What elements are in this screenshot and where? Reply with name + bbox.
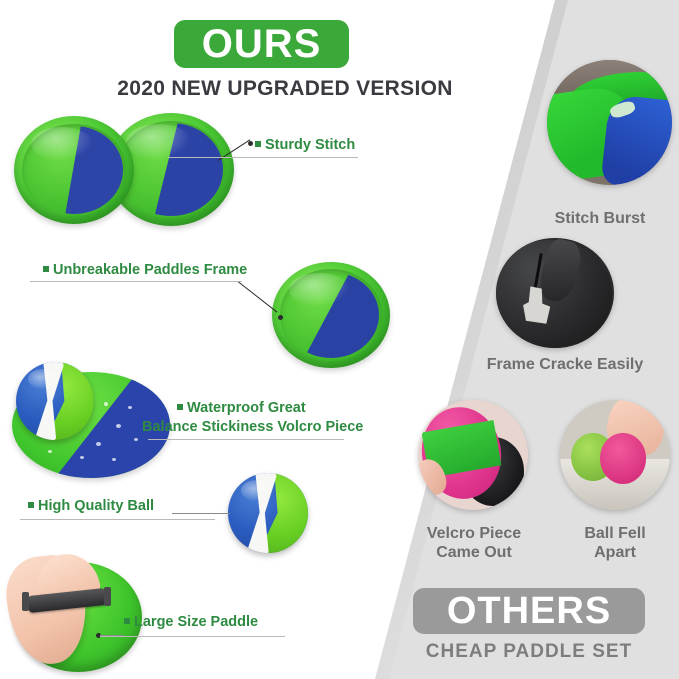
ours-badge: OURS	[174, 20, 349, 68]
leader-dot-unbreakable-frame	[278, 315, 283, 320]
caption-line-1: Velcro Piece	[388, 524, 560, 543]
callout-label: Unbreakable Paddles Frame	[53, 262, 247, 278]
others-badge: OTHERS	[413, 588, 645, 634]
leader-line-unbreakable-frame	[237, 281, 277, 313]
callout-rule-unbreakable-frame	[30, 281, 242, 282]
bullet-icon	[177, 404, 183, 410]
callout-waterproof-line2: Balance Stickiness Volcro Piece	[142, 418, 363, 436]
callout-label: Balance Stickiness Volcro Piece	[142, 419, 363, 435]
caption-line-1: Stitch Burst	[530, 209, 670, 228]
caption-frame-crack: Frame Cracke Easily	[455, 355, 675, 374]
callout-rule-high-quality-ball	[172, 513, 230, 514]
bullet-icon	[124, 618, 130, 624]
paddle-top-left	[14, 116, 134, 224]
strap-buckle-right	[104, 587, 111, 606]
tennis-ball-on-paddle	[16, 362, 94, 440]
comparison-infographic: OURS 2020 NEW UPGRADED VERSION Sturdy St…	[0, 0, 679, 679]
callout-label: High Quality Ball	[38, 498, 154, 514]
caption-line-1: Ball Fell	[548, 524, 679, 543]
ours-subtitle: 2020 NEW UPGRADED VERSION	[105, 77, 465, 101]
callout-label: Waterproof Great	[187, 400, 306, 416]
callout-rule-waterproof	[148, 439, 344, 440]
paddle-single	[272, 262, 390, 368]
ball-gloss	[241, 480, 273, 501]
caption-line-1: Frame Cracke Easily	[455, 355, 675, 374]
callout-label: Large Size Paddle	[134, 614, 258, 630]
photo-frame-crack	[496, 238, 614, 348]
callout-unbreakable-frame: Unbreakable Paddles Frame	[43, 261, 247, 279]
strap-buckle-left	[22, 592, 29, 611]
callout-sturdy-stitch: Sturdy Stitch	[255, 136, 355, 154]
bullet-icon	[43, 266, 49, 272]
pink-ball-half	[600, 433, 646, 484]
caption-velcro-out: Velcro Piece Came Out	[388, 524, 560, 562]
callout-underline-high-quality-ball	[20, 519, 215, 520]
caption-stitch-burst: Stitch Burst	[530, 209, 670, 228]
callout-waterproof-line1: Waterproof Great	[177, 399, 306, 417]
paddle-gloss	[289, 273, 350, 307]
callout-high-quality-ball: High Quality Ball	[28, 497, 154, 515]
callout-label: Sturdy Stitch	[265, 137, 355, 153]
photo-stitch-burst	[547, 60, 672, 185]
caption-line-2: Came Out	[388, 543, 560, 562]
callout-large-size-paddle: Large Size Paddle	[124, 613, 258, 631]
bullet-icon	[255, 141, 261, 147]
others-subtitle: CHEAP PADDLE SET	[396, 641, 662, 663]
tennis-ball	[228, 473, 308, 553]
ball-gloss	[28, 369, 59, 389]
photo-velcro-out	[418, 400, 528, 510]
callout-rule-sturdy-stitch	[168, 157, 358, 158]
bullet-icon	[28, 502, 34, 508]
leader-dot-sturdy-stitch	[248, 141, 253, 146]
caption-ball-apart: Ball Fell Apart	[548, 524, 679, 562]
callout-rule-large-size-paddle	[100, 636, 285, 637]
photo-ball-apart	[560, 400, 670, 510]
caption-line-2: Apart	[548, 543, 679, 562]
